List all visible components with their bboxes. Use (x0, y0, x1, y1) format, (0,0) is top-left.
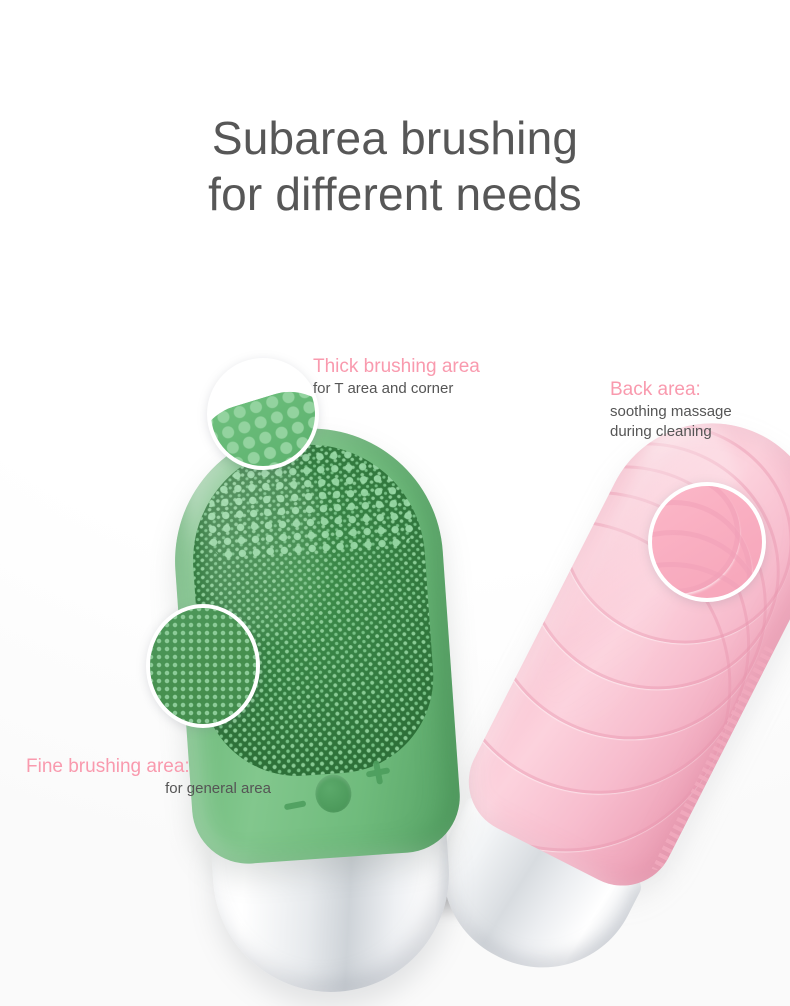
pink-ridge-magnifier-texture (648, 482, 766, 602)
thick-bristle-magnifier-icon (207, 358, 319, 470)
pink-device-body (451, 386, 790, 904)
page-title: Subarea brushing for different needs (0, 110, 790, 222)
thick-bristle-magnifier-texture (207, 378, 319, 470)
callout-title: Fine brushing area: (26, 755, 271, 779)
callout-title: Back area: (610, 378, 732, 402)
callout-back-area: Back area: soothing massage during clean… (610, 378, 732, 442)
headline-line-1: Subarea brushing (0, 110, 790, 166)
pink-facial-cleansing-brush (437, 386, 790, 936)
pink-ridge-magnifier-icon (648, 482, 766, 602)
fine-bristle-magnifier-texture (146, 604, 260, 728)
power-circle-icon[interactable] (314, 773, 353, 813)
callout-subtitle: for general area (26, 779, 271, 799)
callout-title: Thick brushing area (313, 355, 480, 379)
minus-icon[interactable] (284, 800, 307, 810)
product-infographic-poster: Subarea brushing for different needs (0, 0, 790, 1006)
callout-thick-brushing-area: Thick brushing area for T area and corne… (313, 355, 480, 399)
callout-subtitle: for T area and corner (313, 379, 480, 399)
callout-subtitle-line-1: soothing massage (610, 402, 732, 422)
fine-bristle-magnifier-icon (146, 604, 260, 728)
headline-line-2: for different needs (0, 166, 790, 222)
plus-icon[interactable] (364, 758, 392, 786)
callout-subtitle-line-2: during cleaning (610, 422, 732, 442)
callout-fine-brushing-area: Fine brushing area: for general area (26, 755, 271, 799)
